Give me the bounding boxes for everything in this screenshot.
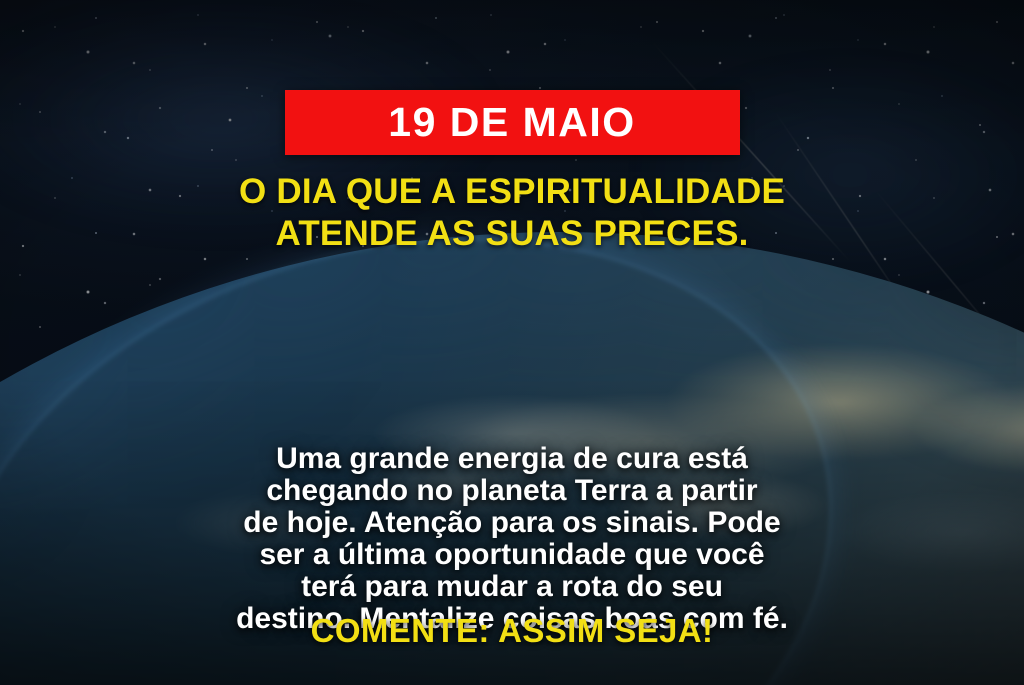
call-to-action-label: COMENTE: ASSIM SEJA! bbox=[311, 612, 714, 650]
body-copy-line-1: Uma grande energia de cura está bbox=[60, 443, 965, 475]
date-banner-label: 19 DE MAIO bbox=[388, 102, 635, 143]
date-banner: 19 DE MAIO bbox=[285, 90, 740, 155]
body-copy-line-2: chegando no planeta Terra a partir bbox=[60, 475, 965, 507]
body-copy-line-3: de hoje. Atenção para os sinais. Pode bbox=[60, 507, 965, 539]
body-copy-line-4: ser a última oportunidade que você bbox=[60, 539, 965, 571]
headline-line-2: ATENDE AS SUAS PRECES. bbox=[72, 213, 952, 255]
poster-content: 19 DE MAIO O DIA QUE A ESPIRITUALIDADE A… bbox=[0, 0, 1024, 685]
social-media-poster: 19 DE MAIO O DIA QUE A ESPIRITUALIDADE A… bbox=[0, 0, 1024, 685]
body-copy: Uma grande energia de cura está chegando… bbox=[60, 443, 965, 636]
headline-line-1: O DIA QUE A ESPIRITUALIDADE bbox=[72, 171, 952, 213]
body-copy-line-5: terá para mudar a rota do seu bbox=[60, 571, 965, 603]
headline: O DIA QUE A ESPIRITUALIDADE ATENDE AS SU… bbox=[72, 171, 952, 254]
